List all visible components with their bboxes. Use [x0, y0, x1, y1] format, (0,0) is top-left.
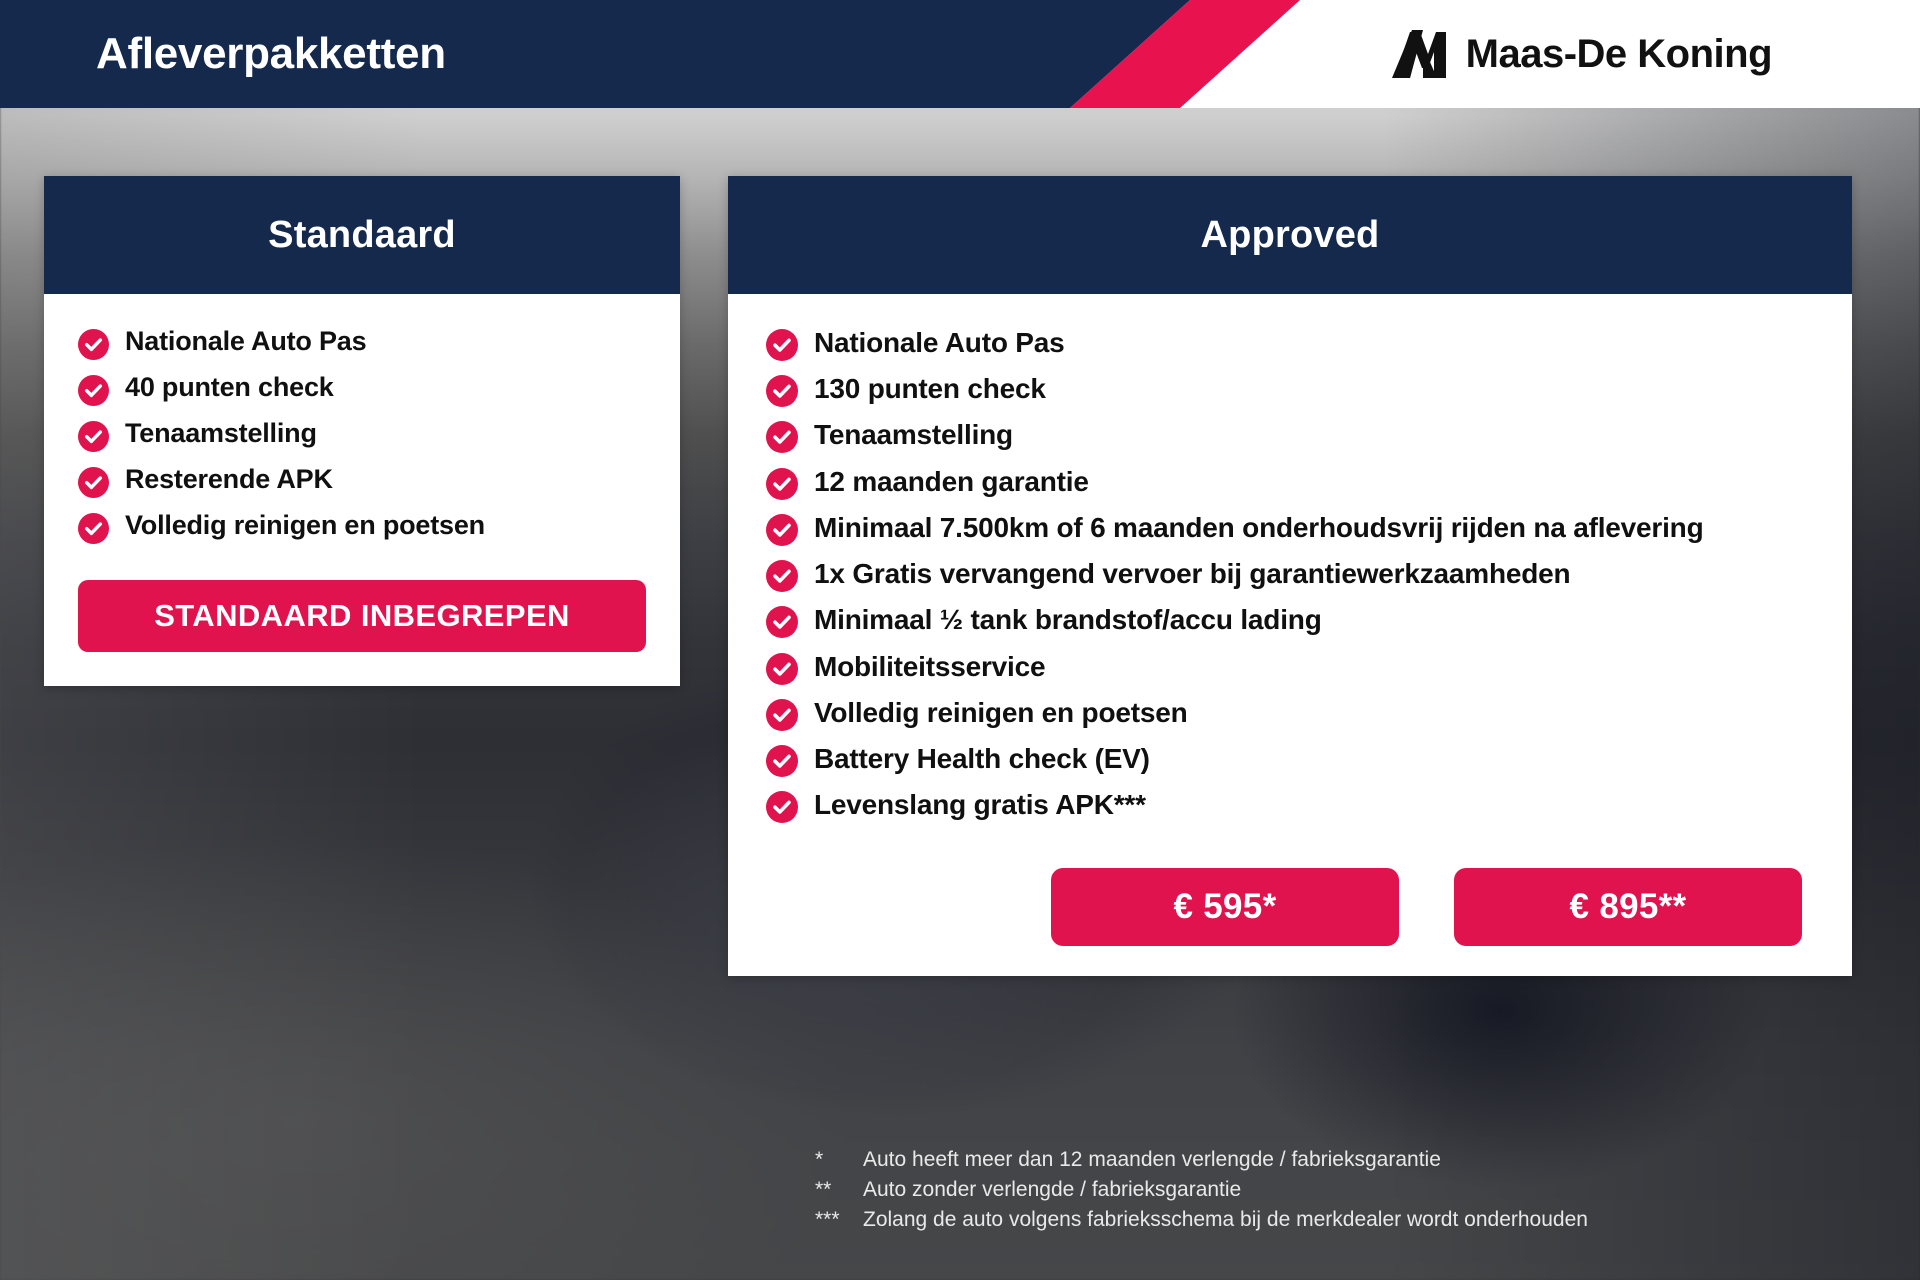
list-item: Battery Health check (EV)	[766, 740, 1812, 777]
footnote-marker: ***	[815, 1205, 863, 1235]
brand-name: Maas-De Koning	[1466, 32, 1772, 77]
check-circle-icon	[766, 699, 798, 731]
footnote-text: Auto zonder verlengde / fabrieksgarantie	[863, 1175, 1855, 1205]
poster-canvas: Afleverpakketten Maas-De Koning Standaar…	[0, 0, 1920, 1280]
feature-label: Minimaal ½ tank brandstof/accu lading	[814, 601, 1322, 638]
check-circle-icon	[78, 513, 109, 544]
check-circle-icon	[766, 560, 798, 592]
approved-feature-list: Nationale Auto Pas 130 punten check Tena…	[766, 324, 1812, 824]
feature-label: Volledig reinigen en poetsen	[125, 508, 485, 544]
price-button-row: € 595* € 895**	[766, 868, 1812, 946]
feature-label: Mobiliteitsservice	[814, 648, 1045, 685]
price-button-895[interactable]: € 895**	[1454, 868, 1802, 946]
feature-label: Levenslang gratis APK***	[814, 786, 1146, 823]
list-item: Minimaal 7.500km of 6 maanden onderhouds…	[766, 509, 1812, 546]
footnote-row: *** Zolang de auto volgens fabrieksschem…	[815, 1205, 1855, 1235]
brand-lockup: Maas-De Koning	[1390, 0, 1772, 108]
check-circle-icon	[78, 467, 109, 498]
footnote-row: * Auto heeft meer dan 12 maanden verleng…	[815, 1145, 1855, 1175]
check-circle-icon	[78, 329, 109, 360]
check-circle-icon	[766, 745, 798, 777]
list-item: 130 punten check	[766, 370, 1812, 407]
footnote-text: Zolang de auto volgens fabrieksschema bi…	[863, 1205, 1855, 1235]
feature-label: Resterende APK	[125, 462, 333, 498]
check-circle-icon	[766, 653, 798, 685]
feature-label: 12 maanden garantie	[814, 463, 1089, 500]
check-circle-icon	[78, 421, 109, 452]
feature-label: Nationale Auto Pas	[125, 324, 366, 360]
list-item: Levenslang gratis APK***	[766, 786, 1812, 823]
feature-label: 130 punten check	[814, 370, 1046, 407]
card-standaard-title: Standaard	[268, 214, 456, 257]
card-approved-title: Approved	[1201, 214, 1380, 257]
list-item: Mobiliteitsservice	[766, 648, 1812, 685]
footnote-marker: **	[815, 1175, 863, 1205]
card-approved: Approved Nationale Auto Pas 130 punten c	[728, 176, 1852, 976]
feature-label: Volledig reinigen en poetsen	[814, 694, 1188, 731]
footnotes: * Auto heeft meer dan 12 maanden verleng…	[815, 1145, 1855, 1234]
price-button-595[interactable]: € 595*	[1051, 868, 1399, 946]
card-standaard-body: Nationale Auto Pas 40 punten check Tenaa…	[44, 294, 680, 686]
feature-label: Nationale Auto Pas	[814, 324, 1065, 361]
list-item: Tenaamstelling	[766, 416, 1812, 453]
check-circle-icon	[766, 375, 798, 407]
list-item: Volledig reinigen en poetsen	[766, 694, 1812, 731]
page-title: Afleverpakketten	[96, 0, 446, 108]
feature-label: Tenaamstelling	[125, 416, 317, 452]
list-item: 40 punten check	[78, 370, 646, 406]
check-circle-icon	[766, 791, 798, 823]
feature-label: Battery Health check (EV)	[814, 740, 1150, 777]
feature-label: 1x Gratis vervangend vervoer bij garanti…	[814, 555, 1570, 592]
check-circle-icon	[766, 421, 798, 453]
list-item: Nationale Auto Pas	[78, 324, 646, 360]
page-header: Afleverpakketten Maas-De Koning	[0, 0, 1920, 108]
list-item: Resterende APK	[78, 462, 646, 498]
check-circle-icon	[766, 606, 798, 638]
card-standaard: Standaard Nationale Auto Pas 40 punten c	[44, 176, 680, 686]
card-standaard-header: Standaard	[44, 176, 680, 294]
footnote-text: Auto heeft meer dan 12 maanden verlengde…	[863, 1145, 1855, 1175]
card-approved-body: Nationale Auto Pas 130 punten check Tena…	[728, 294, 1852, 976]
check-circle-icon	[766, 468, 798, 500]
feature-label: Minimaal 7.500km of 6 maanden onderhouds…	[814, 509, 1703, 546]
card-approved-header: Approved	[728, 176, 1852, 294]
footnote-marker: *	[815, 1145, 863, 1175]
standaard-inbegrepen-button[interactable]: STANDAARD INBEGREPEN	[78, 580, 646, 652]
list-item: Volledig reinigen en poetsen	[78, 508, 646, 544]
feature-label: Tenaamstelling	[814, 416, 1013, 453]
check-circle-icon	[78, 375, 109, 406]
standaard-feature-list: Nationale Auto Pas 40 punten check Tenaa…	[78, 324, 646, 544]
list-item: Tenaamstelling	[78, 416, 646, 452]
feature-label: 40 punten check	[125, 370, 334, 406]
list-item: 12 maanden garantie	[766, 463, 1812, 500]
check-circle-icon	[766, 329, 798, 361]
list-item: Minimaal ½ tank brandstof/accu lading	[766, 601, 1812, 638]
footnote-row: ** Auto zonder verlengde / fabrieksgaran…	[815, 1175, 1855, 1205]
maas-de-koning-m-logo-icon	[1390, 28, 1448, 80]
check-circle-icon	[766, 514, 798, 546]
list-item: Nationale Auto Pas	[766, 324, 1812, 361]
list-item: 1x Gratis vervangend vervoer bij garanti…	[766, 555, 1812, 592]
